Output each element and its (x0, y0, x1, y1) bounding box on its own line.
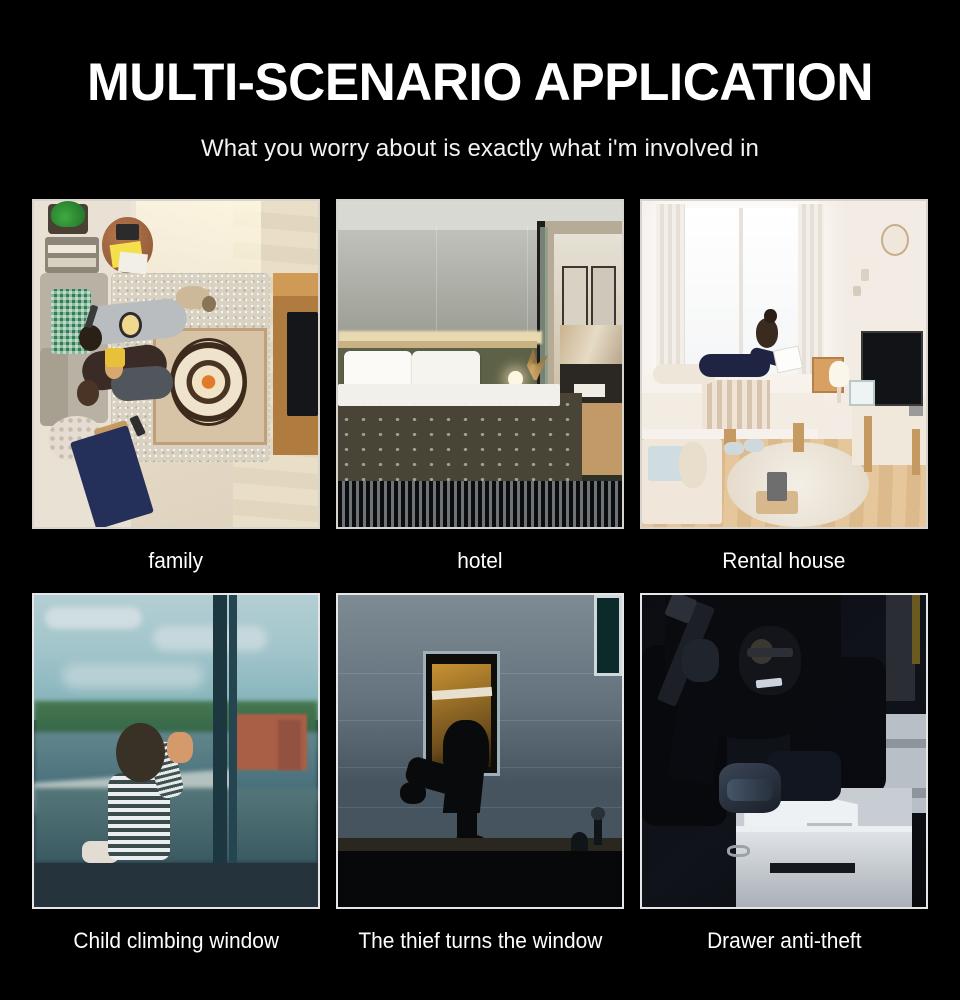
scenario-image-hotel (336, 199, 624, 529)
scenario-caption: family (149, 529, 204, 593)
scenario-cell-rental-house[interactable]: Rental house (640, 199, 928, 593)
scenario-image-thief-window (336, 593, 624, 909)
scenario-caption: Rental house (722, 529, 845, 593)
child-at-window-illustration (34, 595, 318, 907)
scenario-image-child-climbing-window (32, 593, 320, 909)
burglar-climbing-window-illustration (338, 595, 622, 907)
scenario-image-rental-house (640, 199, 928, 529)
scenario-cell-child-climbing-window[interactable]: Child climbing window (32, 593, 320, 973)
scenario-caption: The thief turns the window (358, 909, 602, 973)
rental-apartment-illustration (642, 201, 926, 527)
scenario-image-family (32, 199, 320, 529)
scenario-grid: family hotel (32, 199, 928, 973)
scenario-cell-hotel[interactable]: hotel (336, 199, 624, 593)
scenario-caption: Drawer anti-theft (707, 909, 861, 973)
page-header: MULTI-SCENARIO APPLICATION What you worr… (0, 0, 960, 163)
scenario-cell-thief-window[interactable]: The thief turns the window (336, 593, 624, 973)
family-living-room-illustration (34, 201, 318, 527)
promo-page: MULTI-SCENARIO APPLICATION What you worr… (0, 0, 960, 1000)
scenario-cell-family[interactable]: family (32, 199, 320, 593)
hotel-bedroom-illustration (338, 201, 622, 527)
scenario-caption: hotel (457, 529, 502, 593)
page-title: MULTI-SCENARIO APPLICATION (14, 56, 945, 109)
burglar-at-drawer-illustration (642, 595, 926, 907)
scenario-cell-drawer-anti-theft[interactable]: Drawer anti-theft (640, 593, 928, 973)
scenario-image-drawer-anti-theft (640, 593, 928, 909)
scenario-caption: Child climbing window (73, 909, 279, 973)
page-subtitle: What you worry about is exactly what i'm… (0, 135, 960, 163)
